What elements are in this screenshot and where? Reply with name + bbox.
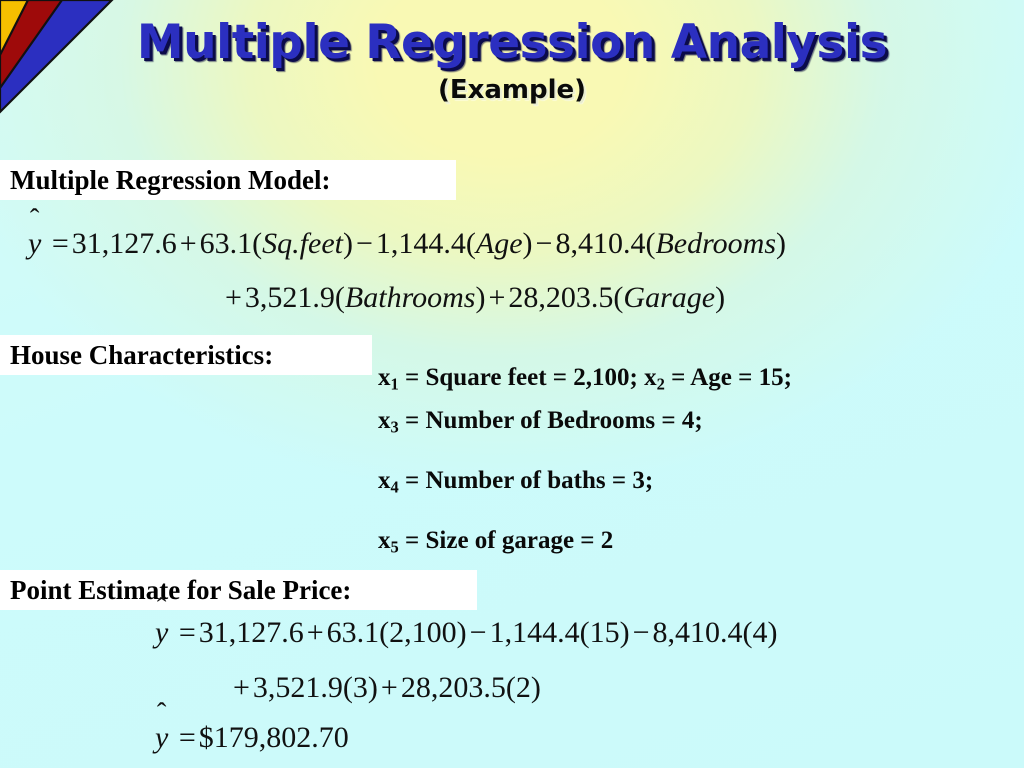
char-5-text: = Size of garage = 2 <box>399 527 614 554</box>
char-2-text: = Age = 15; <box>665 364 792 391</box>
page-title: Multiple Regression Analysis <box>0 14 1024 72</box>
var-bathrooms: Bathrooms <box>345 281 476 314</box>
point-estimate-line-2: +3,521.9(3)+28,203.5(2) <box>230 668 541 708</box>
page-subtitle: (Example) <box>0 74 1024 106</box>
section-heading-house: House Characteristics: <box>0 335 372 375</box>
char-4-text: = Number of baths = 3; <box>399 467 653 494</box>
house-characteristic-row-2: x3 = Number of Bedrooms = 4; <box>378 405 703 443</box>
sale-price-value: $179,802.70 <box>199 721 349 754</box>
point-intercept: 31,127.6 <box>199 616 304 649</box>
subscript-4: 4 <box>391 478 399 497</box>
var-garage: Garage <box>623 281 715 314</box>
title-block: Multiple Regression Analysis (Example) <box>0 14 1024 106</box>
point-estimate-line-1: ŷ =31,127.6+63.1(2,100)−1,144.4(15)−8,4… <box>155 613 777 653</box>
subscript-3: 3 <box>391 418 399 437</box>
equals-sign: = <box>52 227 69 260</box>
char-1-text: = Square feet = 2,100; <box>399 364 644 391</box>
model-intercept: 31,127.6 <box>72 227 177 260</box>
subscript-1: 1 <box>391 375 399 394</box>
model-equation-line-1: ŷ =31,127.6+63.1(Sq.feet)−1,144.4(Age)−… <box>28 224 786 264</box>
var-age: Age <box>476 227 523 260</box>
section-heading-model: Multiple Regression Model: <box>0 160 456 200</box>
section-heading-point-estimate: Point Estimate for Sale Price: <box>0 570 477 610</box>
y-hat-symbol: ŷ <box>155 718 168 758</box>
model-equation-line-2: +3,521.9(Bathrooms)+28,203.5(Garage) <box>222 278 725 318</box>
y-hat-symbol: ŷ <box>28 224 41 264</box>
y-hat-symbol: ŷ <box>155 613 168 653</box>
house-characteristic-row-4: x5 = Size of garage = 2 <box>378 525 613 563</box>
house-characteristic-row-1: x1 = Square feet = 2,100; x2 = Age = 15; <box>378 362 792 400</box>
var-bedrooms: Bedrooms <box>655 227 776 260</box>
slide-canvas: Multiple Regression Analysis (Example) M… <box>0 0 1024 768</box>
var-sq-feet: Sq.feet <box>262 227 343 260</box>
house-characteristic-row-3: x4 = Number of baths = 3; <box>378 465 653 503</box>
subscript-5: 5 <box>391 538 399 557</box>
char-3-text: = Number of Bedrooms = 4; <box>399 407 703 434</box>
subscript-2: 2 <box>657 375 665 394</box>
point-estimate-result: ŷ =$179,802.70 <box>155 718 349 758</box>
